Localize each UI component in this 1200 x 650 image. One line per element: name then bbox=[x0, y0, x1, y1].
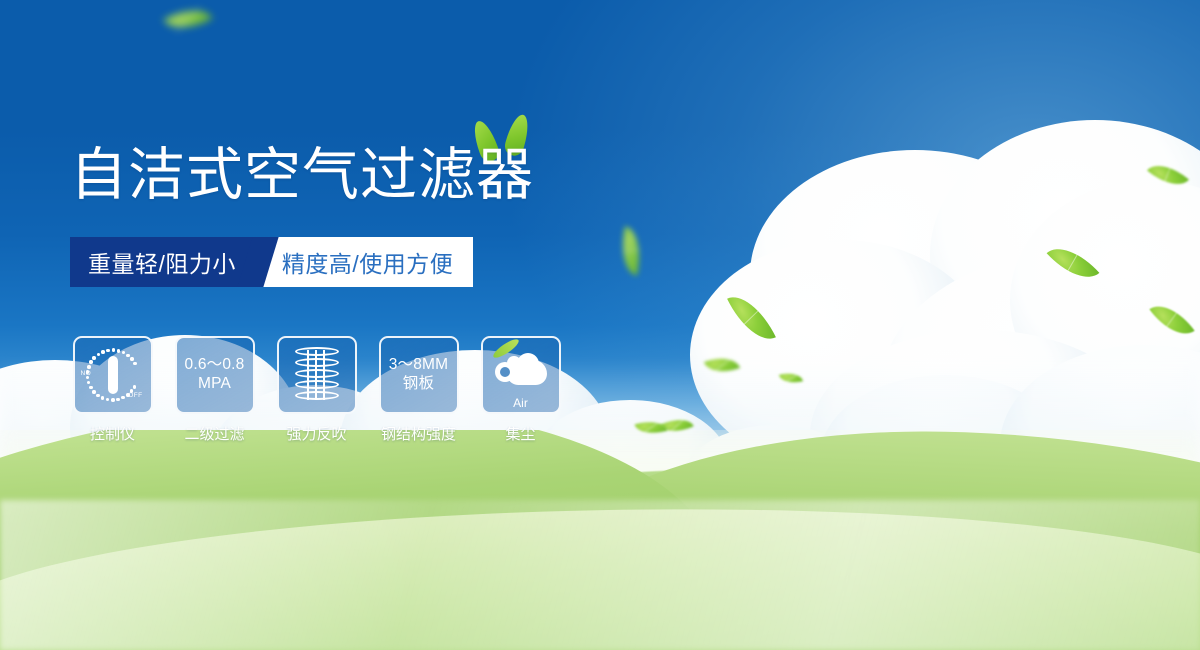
gauge-tick-dot bbox=[112, 348, 116, 352]
gauge-tick-dot bbox=[92, 356, 96, 360]
feature-caption: 二级过滤 bbox=[184, 423, 244, 444]
product-banner: 自洁式空气过滤器 重量轻/阻力小 精度高/使用方便 NO OFF 控制仪 0.6… bbox=[0, 0, 1200, 650]
feature-item-two-stage[interactable]: 0.6～0.8 MPA 二级过滤 bbox=[172, 336, 257, 444]
page-title: 自洁式空气过滤器 bbox=[70, 146, 534, 206]
gauge-tick-dot bbox=[101, 396, 105, 400]
gauge-tick-dot bbox=[126, 354, 130, 358]
gauge-tick-dot bbox=[106, 349, 110, 353]
tagline-badge-left: 重量轻/阻力小 bbox=[70, 237, 258, 287]
gauge-icon: NO OFF bbox=[81, 346, 145, 404]
air-label: Air bbox=[493, 396, 549, 410]
feature-caption: 集尘 bbox=[505, 423, 535, 444]
feature-list: NO OFF 控制仪 0.6～0.8 MPA 二级过滤 bbox=[70, 336, 563, 444]
gauge-tick-dot bbox=[116, 398, 120, 402]
gauge-tick-dot bbox=[87, 365, 91, 369]
feature-item-dust[interactable]: Air 集尘 bbox=[478, 336, 563, 444]
tagline-badge-right: 精度高/使用方便 bbox=[256, 237, 473, 287]
feature-caption: 钢结构强度 bbox=[381, 423, 456, 444]
grass-field bbox=[0, 430, 1200, 650]
gauge-tick-dot bbox=[106, 398, 110, 402]
feature-icon-box bbox=[277, 336, 357, 414]
feature-caption: 控制仪 bbox=[90, 423, 135, 444]
gauge-tick-dot bbox=[122, 351, 126, 355]
gauge-off-label: OFF bbox=[128, 392, 142, 399]
feature-item-back-blow[interactable]: 强力反吹 bbox=[274, 336, 359, 444]
gauge-tick-dot bbox=[101, 350, 105, 354]
gauge-tick-dot bbox=[96, 394, 100, 398]
gauge-tick-dot bbox=[92, 390, 96, 394]
gauge-tick-dot bbox=[97, 353, 101, 357]
gauge-tick-dot bbox=[130, 357, 134, 361]
gauge-tick-dot bbox=[86, 376, 90, 380]
thickness-value-line1: 3～8MM bbox=[389, 356, 449, 375]
air-cloud-icon: Air bbox=[493, 352, 549, 398]
pressure-value-line1: 0.6～0.8 bbox=[185, 356, 245, 375]
pressure-value-line2: MPA bbox=[198, 375, 231, 394]
gauge-tick-dot bbox=[133, 362, 137, 366]
thickness-value-line2: 钢板 bbox=[403, 375, 434, 394]
feature-icon-box: NO OFF bbox=[73, 336, 153, 414]
feature-icon-box: 3～8MM 钢板 bbox=[379, 336, 459, 414]
feature-icon-box: Air bbox=[481, 336, 561, 414]
gauge-tick-dot bbox=[117, 349, 121, 353]
gauge-tick-dot bbox=[126, 393, 130, 397]
gauge-tick-dot bbox=[89, 360, 93, 364]
gauge-tick-dot bbox=[133, 385, 137, 389]
feature-icon-box: 0.6～0.8 MPA bbox=[175, 336, 255, 414]
feature-item-steel[interactable]: 3～8MM 钢板 钢结构强度 bbox=[376, 336, 461, 444]
gauge-tick-dot bbox=[111, 398, 115, 402]
feature-caption: 强力反吹 bbox=[286, 423, 346, 444]
gauge-tick-dot bbox=[87, 381, 91, 385]
coil-icon bbox=[295, 347, 339, 403]
gauge-tick-dot bbox=[89, 386, 93, 390]
gauge-tick-dot bbox=[121, 396, 125, 400]
feature-item-controller[interactable]: NO OFF 控制仪 bbox=[70, 336, 155, 444]
tagline-badge: 重量轻/阻力小 精度高/使用方便 bbox=[70, 237, 473, 287]
